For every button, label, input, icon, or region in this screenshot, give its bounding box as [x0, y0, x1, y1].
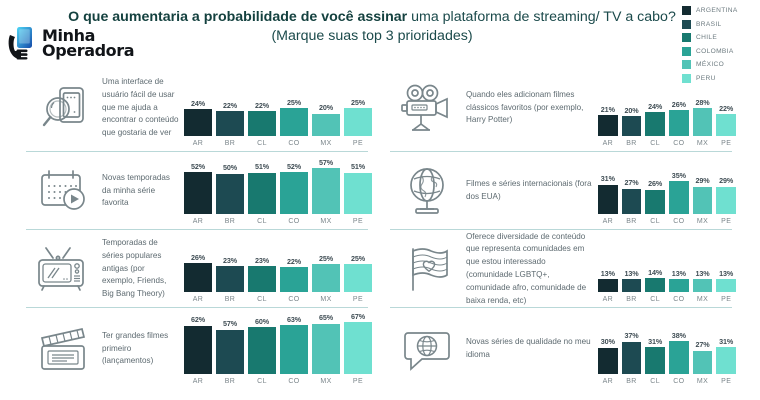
bar-category-label: PE — [344, 136, 372, 147]
bar-value-label: 25% — [312, 254, 340, 263]
bar-value-label: 26% — [669, 100, 689, 109]
bar-value-label: 27% — [622, 178, 642, 187]
bar — [184, 263, 212, 292]
panel-label: Novas temporadas da minha série favorita — [102, 172, 184, 210]
bar-column-co: 52%CO — [280, 162, 308, 214]
bar-value-label: 35% — [669, 171, 689, 180]
bar — [716, 347, 736, 374]
bar — [216, 330, 244, 374]
bar — [669, 110, 689, 136]
bar-category-label: BR — [216, 136, 244, 147]
bar-value-label: 25% — [344, 254, 372, 263]
bar — [622, 116, 642, 136]
bar-value-label: 22% — [248, 101, 276, 110]
bar — [280, 267, 308, 292]
bar-chart: 31%AR27%BR26%CL35%CO29%MX29%PE — [598, 152, 736, 230]
bar-column-br: 22%BR — [216, 101, 244, 136]
bar-category-label: BR — [622, 374, 642, 385]
bar-category-label: CL — [645, 214, 665, 225]
bar-category-label: CO — [280, 374, 308, 385]
bar-category-label: AR — [184, 374, 212, 385]
bar-column-co: 35%CO — [669, 171, 689, 215]
bar — [248, 111, 276, 136]
bar-value-label: 62% — [184, 315, 212, 324]
bar — [669, 341, 689, 374]
bar — [248, 266, 276, 292]
bar-value-label: 20% — [622, 106, 642, 115]
bar-category-label: CL — [248, 374, 276, 385]
bar-category-label: CO — [669, 214, 689, 225]
panel-label: Temporadas de séries populares antigas (… — [102, 237, 184, 301]
retro-tv-icon — [26, 245, 102, 293]
bar-category-label: MX — [312, 374, 340, 385]
bar-column-pe: 22%PE — [716, 104, 736, 137]
bar-column-br: 57%BR — [216, 319, 244, 374]
bar-category-label: CL — [248, 136, 276, 147]
bar-value-label: 31% — [716, 337, 736, 346]
bar — [645, 190, 665, 215]
bar-value-label: 31% — [598, 174, 618, 183]
bar — [598, 185, 618, 214]
bar-category-label: AR — [184, 292, 212, 303]
bar-column-br: 23%BR — [216, 256, 244, 292]
bar-column-mx: 29%MX — [693, 176, 713, 214]
bar-category-label: BR — [216, 214, 244, 225]
bar-column-cl: 14%CL — [645, 268, 665, 293]
bar-column-cl: 51%CL — [248, 162, 276, 214]
bar-column-pe: 29%PE — [716, 176, 736, 214]
bar-chart: 26%AR23%BR23%CL22%CO25%MX25%PE — [184, 230, 372, 308]
bar-value-label: 26% — [645, 179, 665, 188]
bar — [598, 279, 618, 292]
bar-value-label: 20% — [312, 103, 340, 112]
bar-column-br: 27%BR — [622, 178, 642, 214]
panel-label: Filmes e séries internacionais (fora dos… — [466, 178, 598, 204]
bar-column-pe: 31%PE — [716, 337, 736, 374]
legend-swatch-icon — [682, 33, 691, 42]
bar-column-ar: 24%AR — [184, 99, 212, 136]
bar-column-pe: 51%PE — [344, 162, 372, 214]
bar-value-label: 65% — [312, 313, 340, 322]
bar-column-cl: 24%CL — [645, 102, 665, 137]
bar — [622, 189, 642, 214]
bar-value-label: 37% — [622, 331, 642, 340]
globe-speech-bubble-icon — [390, 325, 466, 373]
bar-column-co: 38%CO — [669, 331, 689, 375]
bar-value-label: 14% — [645, 268, 665, 277]
chart-panel-7: Ter grandes filmes primeiro (lançamentos… — [26, 308, 374, 390]
bar-category-label: CL — [645, 136, 665, 147]
bar-column-ar: 31%AR — [598, 174, 618, 214]
bar-column-ar: 52%AR — [184, 162, 212, 214]
bar — [248, 327, 276, 374]
bar — [184, 326, 212, 374]
bar-column-co: 22%CO — [280, 257, 308, 292]
bar-value-label: 28% — [693, 98, 713, 107]
page-title: O que aumentaria a probabilidade de você… — [64, 8, 680, 45]
infographic-page: Minha Operadora O que aumentaria a proba… — [0, 0, 760, 400]
hand-holding-phone-icon — [8, 26, 38, 60]
bar-value-label: 23% — [248, 256, 276, 265]
bar — [598, 115, 618, 136]
bar-value-label: 30% — [598, 337, 618, 346]
bar-column-co: 25%CO — [280, 98, 308, 137]
legend-item-ar: ARGENTINA — [682, 4, 756, 18]
bar — [669, 279, 689, 292]
bar — [716, 114, 736, 136]
legend-item-br: BRASIL — [682, 18, 756, 32]
bar-value-label: 23% — [216, 256, 244, 265]
bar — [645, 278, 665, 292]
bar — [280, 108, 308, 136]
bar-category-label: AR — [598, 292, 618, 303]
bar-category-label: PE — [716, 136, 736, 147]
panel-label: Ter grandes filmes primeiro (lançamentos… — [102, 330, 184, 368]
bar-category-label: MX — [312, 292, 340, 303]
bar-value-label: 22% — [216, 101, 244, 110]
bar-category-label: AR — [184, 214, 212, 225]
flag-heart-icon — [390, 243, 466, 295]
bar-category-label: MX — [312, 214, 340, 225]
legend-label: ARGENTINA — [696, 7, 738, 14]
bar-column-ar: 21%AR — [598, 105, 618, 137]
bar-category-label: MX — [693, 214, 713, 225]
bar-chart: 24%AR22%BR22%CL25%CO20%MX25%PE — [184, 64, 372, 152]
bar-value-label: 25% — [280, 98, 308, 107]
bar-value-label: 13% — [598, 269, 618, 278]
bar-category-label: AR — [598, 374, 618, 385]
bar-column-co: 13%CO — [669, 269, 689, 293]
bar — [312, 324, 340, 374]
bar-category-label: CO — [669, 136, 689, 147]
panel-label: Novas séries de qualidade no meu idioma — [466, 336, 598, 362]
bar — [693, 279, 713, 292]
bar-value-label: 29% — [693, 176, 713, 185]
chart-panel-3: Novas temporadas da minha série favorita… — [26, 152, 374, 230]
chart-panel-8: Novas séries de qualidade no meu idioma3… — [390, 308, 738, 390]
bar-value-label: 51% — [248, 162, 276, 171]
bar-category-label: AR — [598, 214, 618, 225]
bar-value-label: 13% — [693, 269, 713, 278]
legend-swatch-icon — [682, 47, 691, 56]
bar-column-mx: 27%MX — [693, 340, 713, 374]
bar-column-pe: 13%PE — [716, 269, 736, 293]
bar-category-label: AR — [184, 136, 212, 147]
bar-column-mx: 13%MX — [693, 269, 713, 293]
bar-value-label: 67% — [344, 312, 372, 321]
page-title-bold: O que aumentaria a probabilidade de você… — [68, 9, 407, 25]
legend-item-co: COLOMBIA — [682, 45, 756, 59]
bar — [693, 187, 713, 214]
bar-chart: 21%AR20%BR24%CL26%CO28%MX22%PE — [598, 64, 736, 152]
bar-column-co: 63%CO — [280, 315, 308, 374]
bar-chart: 30%AR37%BR31%CL38%CO27%MX31%PE — [598, 308, 736, 390]
calendar-play-icon — [26, 167, 102, 215]
bar — [344, 264, 372, 292]
bar-value-label: 13% — [622, 269, 642, 278]
bar-category-label: BR — [216, 374, 244, 385]
bar-value-label: 24% — [184, 99, 212, 108]
bar — [248, 173, 276, 214]
bar — [669, 181, 689, 214]
bar — [716, 187, 736, 214]
chart-panel-6: Oferece diversidade de conteúdo que repr… — [390, 230, 738, 308]
bar — [312, 114, 340, 136]
bar-chart: 62%AR57%BR60%CL63%CO65%MX67%PE — [184, 308, 372, 390]
bar-column-ar: 30%AR — [598, 337, 618, 374]
chart-panel-1: Uma interface de usuário fácil de usar q… — [26, 64, 374, 152]
bar-column-pe: 25%PE — [344, 254, 372, 292]
bar-category-label: PE — [344, 292, 372, 303]
bar — [693, 108, 713, 136]
bar — [184, 172, 212, 214]
bar-value-label: 27% — [693, 340, 713, 349]
magnifier-phone-icon — [26, 82, 102, 134]
bar-value-label: 22% — [716, 104, 736, 113]
bar-column-ar: 62%AR — [184, 315, 212, 374]
bar-column-br: 50%BR — [216, 163, 244, 214]
legend-label: CHILE — [696, 34, 717, 41]
bar — [280, 325, 308, 374]
bar — [598, 348, 618, 374]
bar-column-co: 26%CO — [669, 100, 689, 137]
bar-category-label: PE — [716, 374, 736, 385]
panel-label: Uma interface de usuário fácil de usar q… — [102, 76, 184, 140]
bar — [280, 172, 308, 214]
bar — [645, 112, 665, 136]
legend-item-cl: CHILE — [682, 31, 756, 45]
bar — [693, 351, 713, 374]
legend-label: BRASIL — [696, 21, 722, 28]
bar-value-label: 50% — [216, 163, 244, 172]
bar-value-label: 31% — [645, 337, 665, 346]
bar-category-label: CO — [280, 214, 308, 225]
bar-category-label: MX — [693, 374, 713, 385]
bar-column-mx: 25%MX — [312, 254, 340, 292]
legend-swatch-icon — [682, 6, 691, 15]
bar-value-label: 26% — [184, 253, 212, 262]
bar-value-label: 13% — [669, 269, 689, 278]
movie-camera-icon — [390, 82, 466, 134]
bar — [312, 264, 340, 292]
bar-category-label: MX — [693, 292, 713, 303]
bar — [184, 109, 212, 136]
bar-column-cl: 60%CL — [248, 317, 276, 374]
bar-category-label: CO — [280, 136, 308, 147]
bar-value-label: 25% — [344, 98, 372, 107]
bar — [216, 266, 244, 292]
chart-panel-5: Temporadas de séries populares antigas (… — [26, 230, 374, 308]
bar-column-mx: 28%MX — [693, 98, 713, 137]
bar-column-ar: 13%AR — [598, 269, 618, 293]
bar — [645, 347, 665, 374]
chart-grid: Uma interface de usuário fácil de usar q… — [26, 64, 738, 394]
bar-category-label: PE — [716, 292, 736, 303]
bar-column-br: 20%BR — [622, 106, 642, 137]
bar — [344, 173, 372, 214]
bar-category-label: CO — [669, 292, 689, 303]
bar-column-mx: 65%MX — [312, 313, 340, 374]
legend-label: COLOMBIA — [696, 48, 734, 55]
bar — [344, 322, 372, 374]
bar-value-label: 51% — [344, 162, 372, 171]
globe-stand-icon — [390, 165, 466, 217]
panel-label: Oferece diversidade de conteúdo que repr… — [466, 231, 598, 308]
bar-category-label: BR — [622, 136, 642, 147]
bar-category-label: BR — [216, 292, 244, 303]
bar-value-label: 22% — [280, 257, 308, 266]
bar-column-br: 37%BR — [622, 331, 642, 374]
bar-category-label: MX — [693, 136, 713, 147]
bar-category-label: CO — [280, 292, 308, 303]
bar — [622, 342, 642, 374]
bar-category-label: CO — [669, 374, 689, 385]
bar-value-label: 52% — [184, 162, 212, 171]
bar — [622, 279, 642, 292]
bar-column-cl: 23%CL — [248, 256, 276, 292]
bar-category-label: PE — [716, 214, 736, 225]
bar-chart: 13%AR13%BR14%CL13%CO13%MX13%PE — [598, 230, 736, 308]
bar-category-label: BR — [622, 292, 642, 303]
bar — [344, 108, 372, 136]
bar-value-label: 13% — [716, 269, 736, 278]
bar-column-cl: 26%CL — [645, 179, 665, 214]
bar-value-label: 24% — [645, 102, 665, 111]
bar-category-label: PE — [344, 374, 372, 385]
bar-value-label: 21% — [598, 105, 618, 114]
bar-value-label: 38% — [669, 331, 689, 340]
chart-panel-2: Quando eles adicionam filmes clássicos f… — [390, 64, 738, 152]
bar-category-label: PE — [344, 214, 372, 225]
bar — [216, 111, 244, 136]
panel-label: Quando eles adicionam filmes clássicos f… — [466, 89, 598, 127]
bar — [312, 168, 340, 214]
bar-value-label: 57% — [312, 158, 340, 167]
bar — [716, 279, 736, 292]
bar-category-label: CL — [248, 214, 276, 225]
clapperboard-icon — [26, 325, 102, 373]
legend-swatch-icon — [682, 20, 691, 29]
bar — [216, 174, 244, 214]
bar-column-cl: 31%CL — [645, 337, 665, 374]
bar-category-label: BR — [622, 214, 642, 225]
bar-column-mx: 57%MX — [312, 158, 340, 215]
bar-column-br: 13%BR — [622, 269, 642, 293]
bar-column-ar: 26%AR — [184, 253, 212, 293]
bar-category-label: AR — [598, 136, 618, 147]
bar-column-mx: 20%MX — [312, 103, 340, 136]
bar-value-label: 52% — [280, 162, 308, 171]
chart-panel-4: Filmes e séries internacionais (fora dos… — [390, 152, 738, 230]
bar-value-label: 63% — [280, 315, 308, 324]
bar-category-label: CL — [248, 292, 276, 303]
bar-category-label: CL — [645, 292, 665, 303]
bar-category-label: MX — [312, 136, 340, 147]
bar-category-label: CL — [645, 374, 665, 385]
bar-value-label: 60% — [248, 317, 276, 326]
bar-value-label: 57% — [216, 319, 244, 328]
bar-column-cl: 22%CL — [248, 101, 276, 136]
bar-column-pe: 25%PE — [344, 98, 372, 137]
bar-value-label: 29% — [716, 176, 736, 185]
bar-column-pe: 67%PE — [344, 312, 372, 375]
bar-chart: 52%AR50%BR51%CL52%CO57%MX51%PE — [184, 152, 372, 230]
